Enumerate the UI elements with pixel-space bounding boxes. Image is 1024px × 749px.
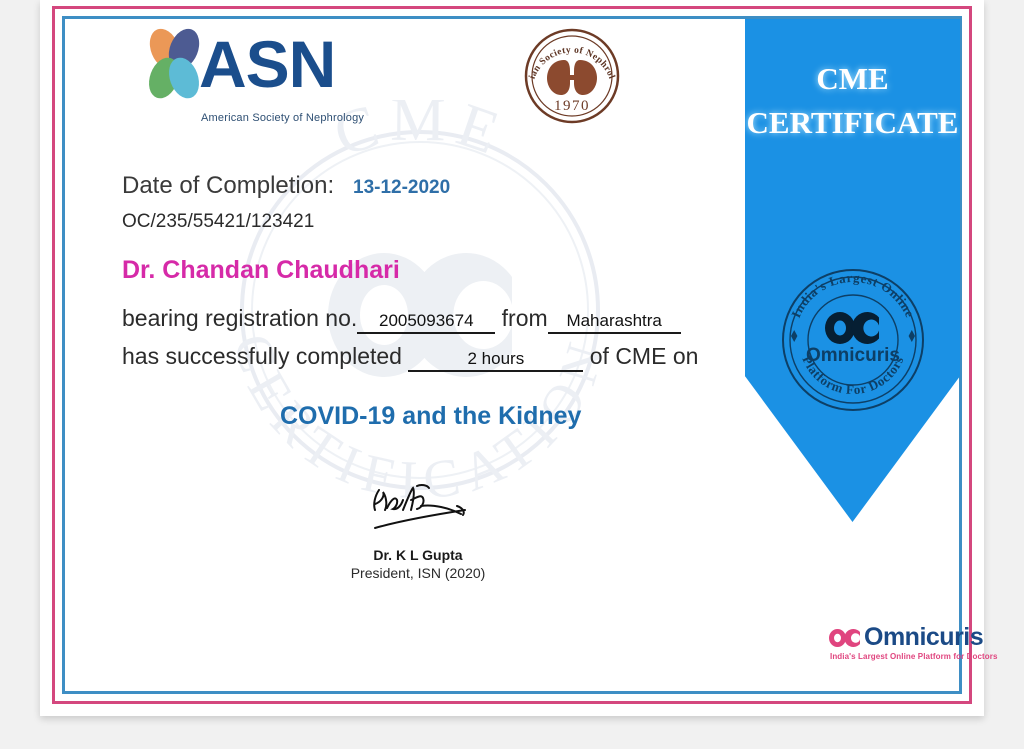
certificate-card: CME CERTIFICATION ASN American Soci — [40, 0, 984, 716]
ribbon-title-line2: CERTIFICATE — [745, 101, 960, 145]
state-field: Maharashtra — [548, 311, 681, 334]
certificate-id: OC/235/55421/123421 — [122, 211, 314, 233]
omnicuris-footer-logo: Omnicuris India's Largest Online Platfor… — [828, 623, 978, 665]
from-text: from — [502, 305, 548, 331]
svg-text:Omnicuris: Omnicuris — [806, 345, 900, 366]
signatory-name: Dr. K L Gupta — [318, 547, 518, 563]
signature-block: Dr. K L Gupta President, ISN (2020) — [318, 482, 518, 581]
completed-prefix-text: has successfully completed — [122, 343, 402, 369]
omnicuris-seal-icon: India's Largest Online Platform For Doct… — [777, 264, 929, 416]
asn-tagline: American Society of Nephrology — [201, 112, 364, 124]
svg-text:1970: 1970 — [554, 98, 590, 114]
registration-number-field: 2005093674 — [357, 311, 495, 334]
registration-sentence: bearing registration no.2005093674 fromM… — [122, 305, 681, 334]
asn-logo: ASN American Society of Nephrology — [143, 25, 338, 125]
omnicuris-footer-brand: Omnicuris — [864, 623, 983, 652]
registration-prefix-text: bearing registration no. — [122, 305, 357, 331]
asn-acronym: ASN — [199, 31, 335, 97]
of-cme-on-text: of CME on — [590, 343, 699, 369]
ribbon-title-line1: CME — [745, 57, 960, 101]
omnicuris-oc-mark-icon — [828, 626, 862, 650]
asn-petals-icon — [143, 25, 205, 103]
date-of-completion-value: 13-12-2020 — [353, 177, 450, 199]
ribbon-title: CME CERTIFICATE — [745, 57, 960, 145]
signatory-role: President, ISN (2020) — [318, 565, 518, 581]
course-title: COVID-19 and the Kidney — [280, 402, 581, 431]
date-of-completion-label: Date of Completion: — [122, 172, 334, 200]
doctor-name: Dr. Chandan Chaudhari — [122, 256, 400, 285]
handwritten-signature-icon — [353, 482, 483, 534]
certificate-page: CME CERTIFICATION ASN American Soci — [0, 0, 1024, 749]
omnicuris-footer-tagline: India's Largest Online Platform for Doct… — [830, 652, 998, 661]
isn-seal-icon: Indian Society of Nephrology 1970 — [520, 24, 624, 128]
completion-sentence: has successfully completed 2 hours of CM… — [122, 343, 698, 372]
duration-field: 2 hours — [408, 349, 583, 372]
